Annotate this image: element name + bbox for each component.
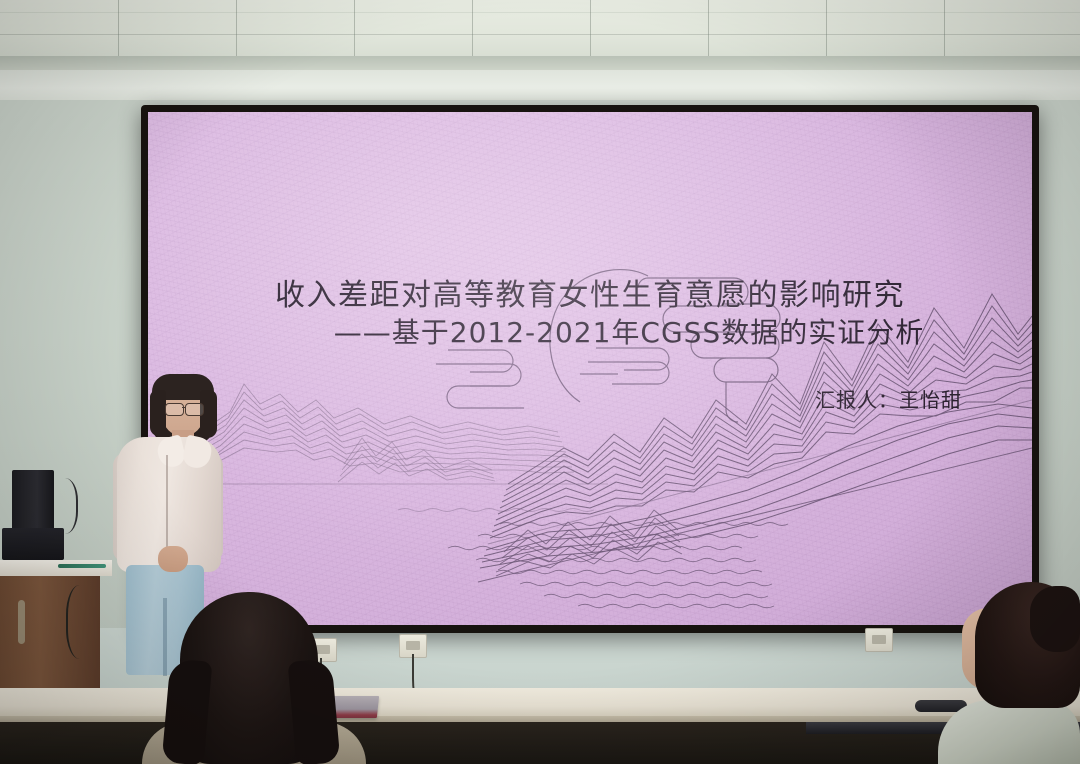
presenter-hair-left (150, 390, 166, 436)
stylus-pen[interactable] (58, 564, 106, 568)
classroom-photo-scene: 收入差距对高等教育女性生育意愿的影响研究 ——基于2012-2021年CGSS数… (0, 0, 1080, 764)
slide-title-subtitle: ——基于2012-2021年CGSS数据的实证分析 (148, 311, 1032, 351)
presentation-screen[interactable]: 收入差距对高等教育女性生育意愿的影响研究 ——基于2012-2021年CGSS数… (148, 112, 1032, 625)
ceiling (0, 0, 1080, 60)
floor-cable (66, 585, 100, 659)
computer-cables (46, 478, 78, 534)
audience2-hair-back (1030, 586, 1080, 652)
wall-outlet-right (865, 628, 893, 652)
glasses-right-lens (185, 403, 204, 416)
glasses-left-lens (165, 403, 184, 416)
av-equipment-box (2, 528, 64, 560)
presenter-hands (158, 546, 188, 572)
slide-title-main: 收入差距对高等教育女性生育意愿的影响研究 (148, 270, 1032, 314)
jeans-seam (163, 598, 167, 676)
cabinet-handle[interactable] (18, 600, 25, 644)
glasses-bridge (182, 407, 186, 408)
lectern-top (0, 560, 112, 576)
slide-text-block: 收入差距对高等教育女性生育意愿的影响研究 ——基于2012-2021年CGSS数… (148, 112, 1032, 625)
slide-presenter-line: 汇报人：王怡甜 (815, 384, 962, 413)
audience2-shoulders (938, 700, 1080, 764)
